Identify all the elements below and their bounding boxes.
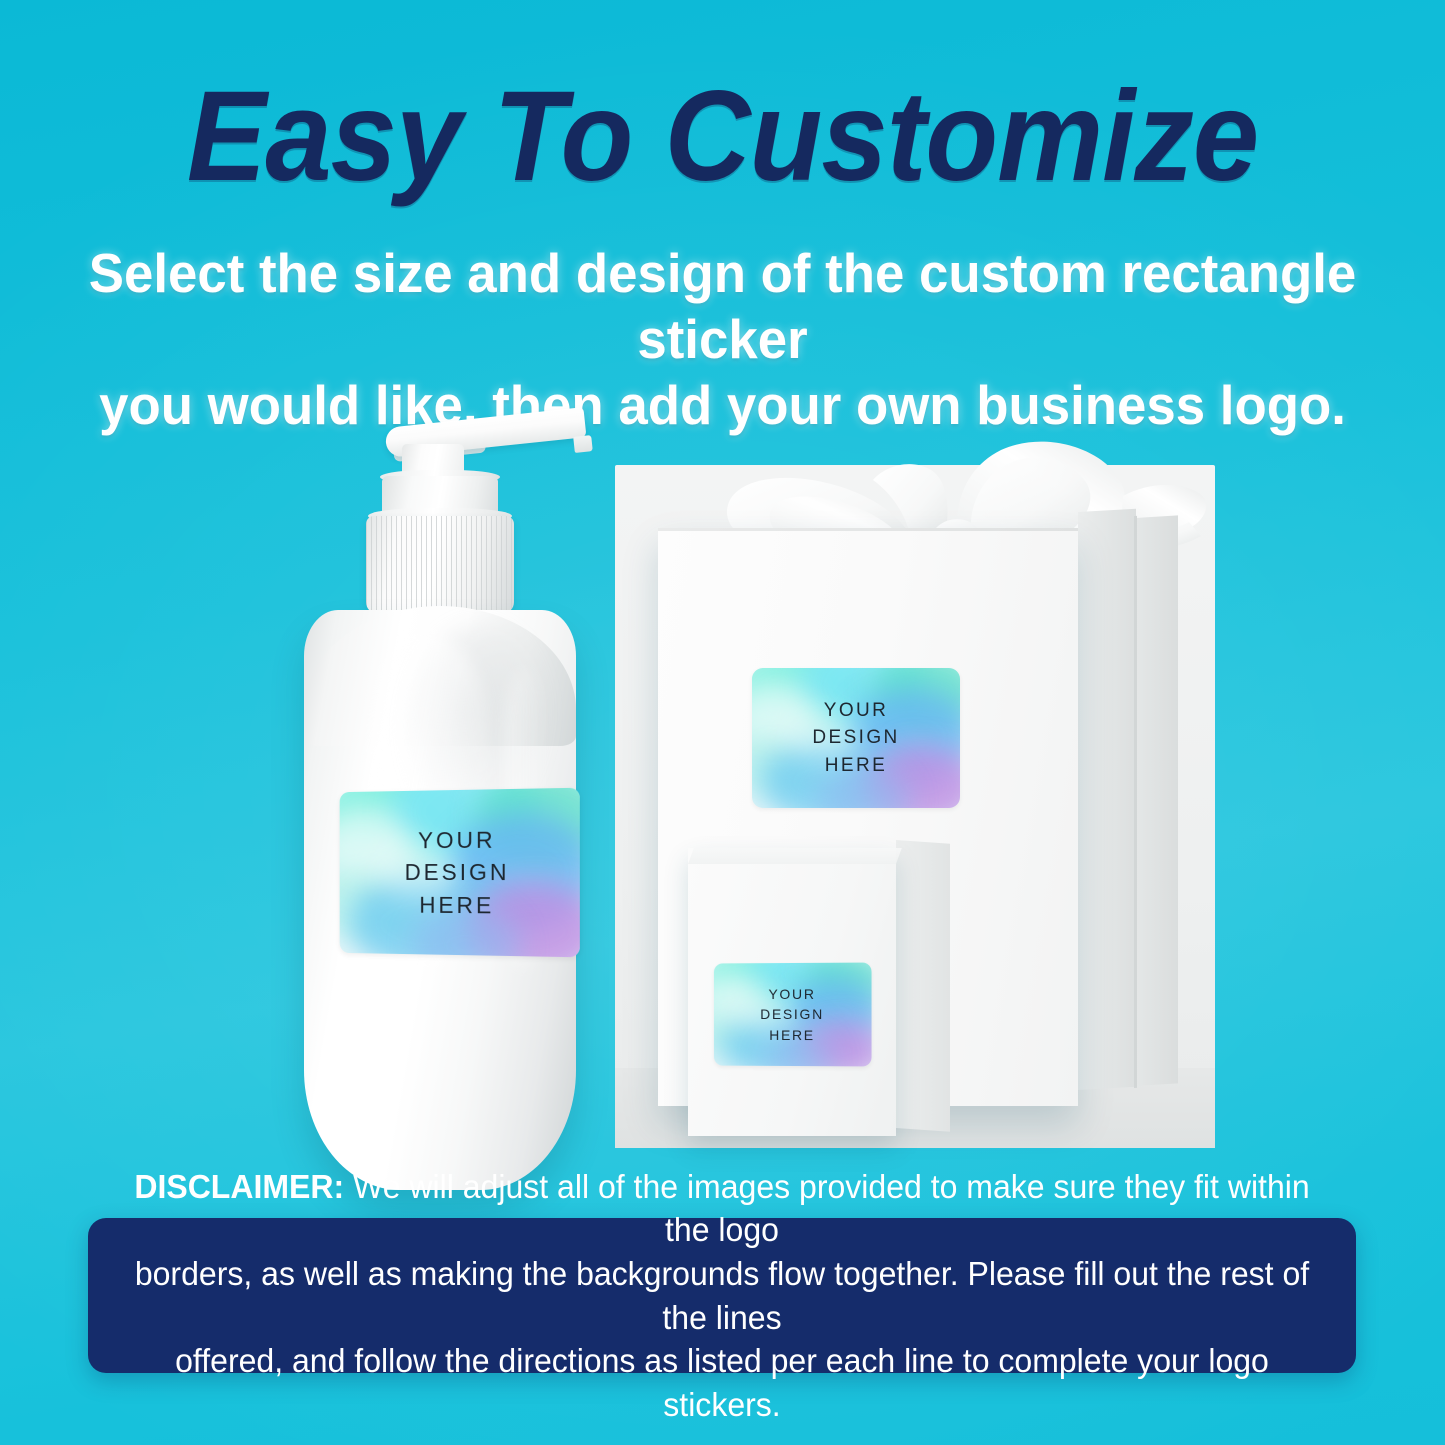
sticker-placeholder-text: YOUR DESIGN HERE — [752, 668, 960, 808]
sticker-line-3: HERE — [825, 752, 887, 780]
disclaimer-line-3: offered, and follow the directions as li… — [132, 1339, 1312, 1426]
sticker-line-2: DESIGN — [405, 856, 510, 889]
disclaimer-box: DISCLAIMER: We will adjust all of the im… — [88, 1218, 1356, 1373]
page-title: Easy To Customize — [51, 72, 1395, 203]
disclaimer-line-1-rest: We will adjust all of the images provide… — [344, 1168, 1309, 1249]
gift-box-seam — [1134, 516, 1137, 1088]
pump-ribbed-collar — [366, 516, 514, 614]
disclaimer-line-1: DISCLAIMER: We will adjust all of the im… — [132, 1165, 1312, 1252]
subtitle-line-1: Select the size and design of the custom… — [87, 240, 1359, 372]
sticker-on-small-box[interactable]: YOUR DESIGN HERE — [714, 963, 872, 1067]
sticker-line-3: HERE — [419, 889, 494, 922]
sticker-on-bottle[interactable]: YOUR DESIGN HERE — [340, 788, 580, 958]
poster-canvas: Easy To Customize Select the size and de… — [0, 0, 1445, 1445]
pump-nozzle-tip — [573, 435, 593, 453]
sticker-line-2: DESIGN — [812, 724, 899, 752]
sticker-line-2: DESIGN — [760, 1004, 824, 1024]
small-box-side-panel — [896, 840, 950, 1132]
sticker-on-gift-box[interactable]: YOUR DESIGN HERE — [752, 668, 960, 808]
gift-box-lid-line — [658, 528, 1078, 531]
disclaimer-prefix: DISCLAIMER: — [134, 1168, 344, 1205]
sticker-placeholder-text: YOUR DESIGN HERE — [714, 963, 872, 1067]
sticker-line-1: YOUR — [418, 823, 495, 856]
disclaimer-text: DISCLAIMER: We will adjust all of the im… — [132, 1165, 1312, 1426]
sticker-placeholder-text: YOUR DESIGN HERE — [340, 788, 580, 958]
gift-box-back-panel — [1136, 515, 1178, 1086]
small-box-top-panel — [688, 848, 902, 864]
sticker-line-1: YOUR — [824, 697, 889, 725]
sticker-line-1: YOUR — [768, 984, 815, 1004]
sticker-line-3: HERE — [769, 1025, 815, 1045]
disclaimer-line-2: borders, as well as making the backgroun… — [132, 1252, 1312, 1339]
gift-box-side-panel — [1078, 509, 1136, 1090]
